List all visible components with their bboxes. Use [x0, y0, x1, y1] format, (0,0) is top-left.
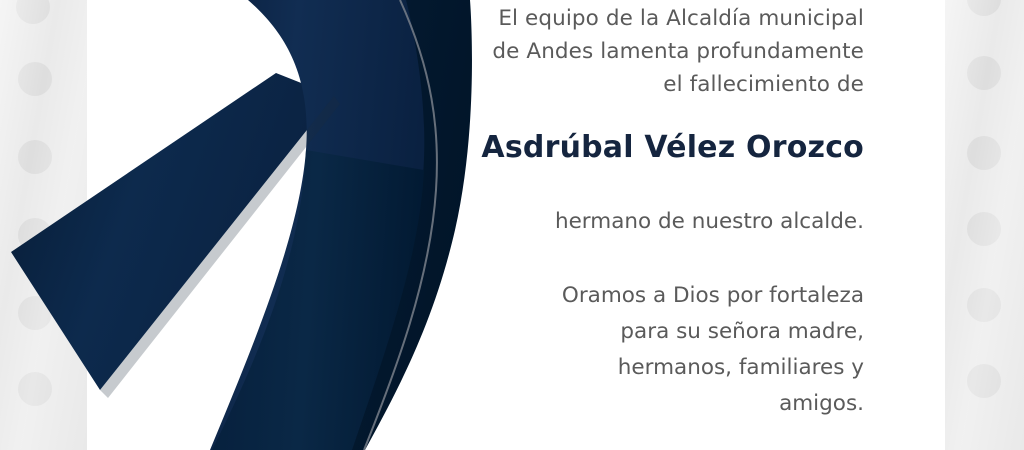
message-text-block: El equipo de la Alcaldía municipal de An…	[470, 0, 864, 450]
decorative-dot	[967, 288, 1001, 322]
lead-line-1: El equipo de la Alcaldía municipal	[498, 6, 864, 31]
left-decorative-band	[0, 0, 87, 450]
lead-line-2: de Andes lamenta profundamente	[492, 39, 864, 64]
decorative-dot	[18, 218, 52, 252]
prayer-paragraph: Oramos a Dios por fortaleza para su seño…	[470, 238, 864, 422]
prayer-line-1: Oramos a Dios por fortaleza	[562, 283, 864, 308]
decorative-dot	[18, 372, 52, 406]
condolence-card: El equipo de la Alcaldía municipal de An…	[0, 0, 1024, 450]
decorative-dot	[18, 296, 52, 330]
decorative-dot	[967, 56, 1001, 90]
decorative-dot	[16, 0, 50, 24]
decorative-dot	[967, 0, 1001, 16]
relation-text: hermano de nuestro alcalde.	[470, 167, 864, 238]
decorative-dot	[18, 62, 52, 96]
deceased-name: Asdrúbal Vélez Orozco	[470, 101, 864, 167]
prayer-line-2: para su señora madre,	[620, 319, 864, 344]
decorative-dot	[967, 212, 1001, 246]
prayer-line-4: amigos.	[779, 391, 864, 416]
decorative-dot	[967, 364, 1001, 398]
lead-line-3: el fallecimiento de	[663, 72, 864, 97]
right-decorative-band	[945, 0, 1024, 450]
prayer-line-3: hermanos, familiares y	[618, 355, 864, 380]
decorative-dot	[18, 140, 52, 174]
decorative-dot	[967, 136, 1001, 170]
lead-paragraph: El equipo de la Alcaldía municipal de An…	[470, 0, 864, 101]
